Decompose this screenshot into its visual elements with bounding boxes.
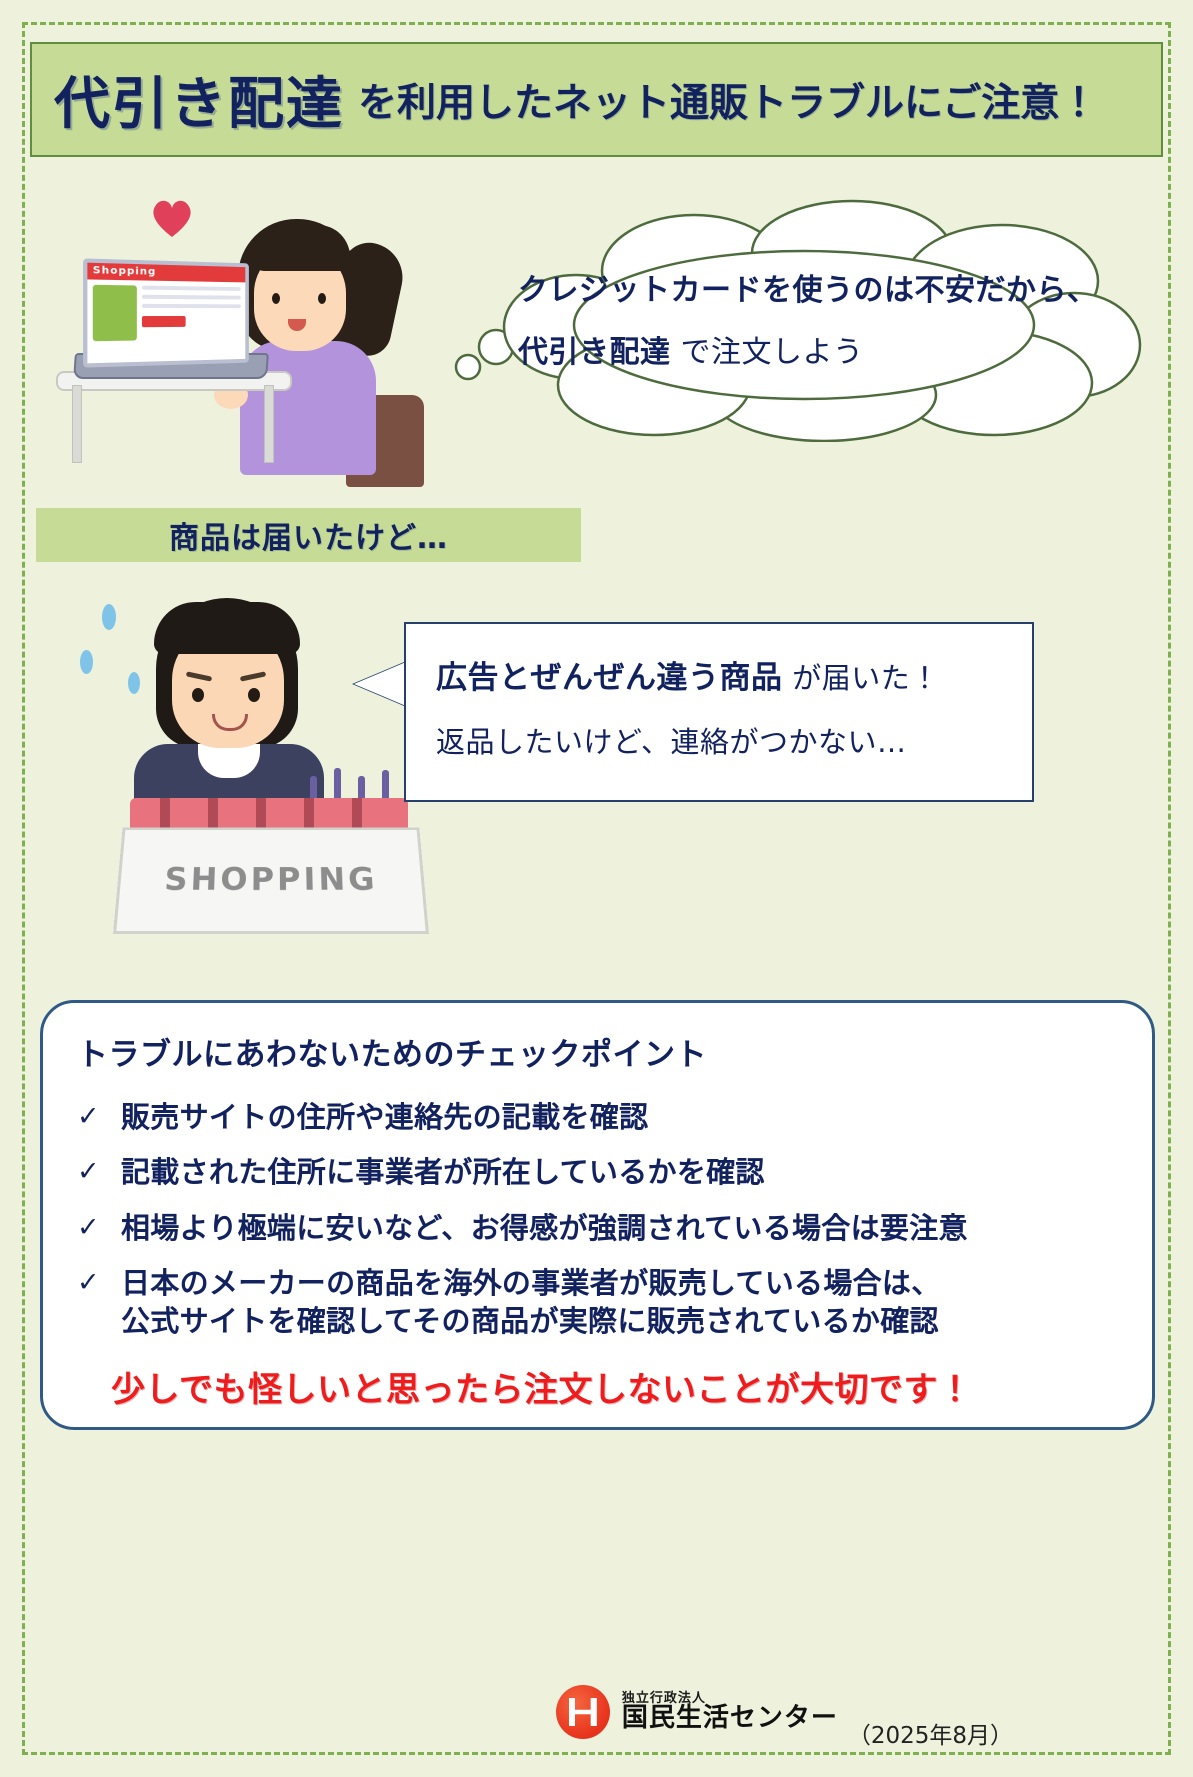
check-icon: ✓ [77, 1209, 121, 1245]
table-leg-left [72, 385, 82, 463]
check-icon: ✓ [77, 1153, 121, 1189]
text-line [142, 286, 241, 291]
speech-line-1: 広告とぜんぜん違う商品 が届いた！ [436, 652, 1002, 697]
illustration-worried-woman-holding-box: SHOPPING [72, 580, 432, 960]
thought-line-2-rest: で注文しよう [671, 335, 864, 370]
checkpoint-item-text: 相場より極端に安いなど、お得感が強調されている場合は要注意 [121, 1209, 968, 1247]
organization-name-block: 独立行政法人 国民生活センター [622, 1692, 838, 1733]
heart-icon [150, 199, 194, 239]
header-title-rest: を利用したネット通販トラブルにご注意！ [358, 72, 1098, 128]
thought-bubble-text: クレジットカードを使うのは不安だから、 代引き配達 で注文しよう [518, 265, 1098, 371]
checkpoint-item-text: 販売サイトの住所や連絡先の記載を確認 [121, 1098, 648, 1136]
scene-wrong-product: SHOPPING 広告とぜんぜん違う商品 が届いた！ 返品したいけど、連絡がつか… [36, 580, 1156, 960]
fringe-shape [154, 602, 300, 654]
speech-bubble: 広告とぜんぜん違う商品 が届いた！ 返品したいけど、連絡がつかない… [404, 622, 1034, 802]
scene-online-order: Shopping [36, 185, 1156, 485]
laptop-screen: Shopping [83, 258, 249, 367]
product-thumbnail [93, 285, 137, 341]
eye-left-shape [272, 293, 280, 304]
text-line [142, 295, 241, 300]
check-icon: ✓ [77, 1264, 121, 1300]
check-icon: ✓ [77, 1098, 121, 1134]
checkpoint-item: ✓ 相場より極端に安いなど、お得感が強調されている場合は要注意 [77, 1209, 1118, 1247]
checkpoint-item: ✓ 日本のメーカーの商品を海外の事業者が販売している場合は、 公式サイトを確認し… [77, 1264, 1118, 1341]
checkpoint-item: ✓ 販売サイトの住所や連絡先の記載を確認 [77, 1098, 1118, 1136]
subbanner-item-delivered: 商品は届いたけど… [36, 508, 581, 562]
checkpoint-item-text: 記載された住所に事業者が所在しているかを確認 [121, 1153, 765, 1191]
shopping-site-body [87, 279, 245, 346]
checkpoint-title: トラブルにあわないためのチェックポイント [77, 1029, 1118, 1074]
speech-line-2: 返品したいけど、連絡がつかない… [436, 719, 1002, 761]
footer: 独立行政法人 国民生活センター （2025年8月） [0, 1672, 1193, 1752]
thought-line-1: クレジットカードを使うのは不安だから、 [518, 265, 1098, 309]
subbanner-label: 商品は届いたけど… [169, 513, 448, 557]
text-line [142, 304, 241, 308]
thought-line-2: 代引き配達 で注文しよう [518, 327, 1098, 371]
organization-name: 国民生活センター [622, 1705, 838, 1732]
publication-date: （2025年8月） [848, 1716, 1013, 1752]
checkpoint-item: ✓ 記載された住所に事業者が所在しているかを確認 [77, 1153, 1118, 1191]
checkpoint-item-text: 日本のメーカーの商品を海外の事業者が販売している場合は、 公式サイトを確認してそ… [121, 1264, 941, 1341]
sweat-drop [128, 672, 140, 694]
table-leg-right [264, 385, 274, 463]
poster-root: 代引き配達 を利用したネット通販トラブルにご注意！ Shopping [0, 0, 1193, 1777]
kokumin-seikatsu-center-logo-icon [556, 1685, 610, 1739]
shipping-box-label: SHOPPING [163, 861, 378, 898]
fringe-shape [250, 225, 350, 271]
buy-button-shape [142, 316, 186, 327]
warning-message: 少しでも怪しいと思ったら注文しないことが大切です！ [77, 1362, 1118, 1411]
thought-line-2-emphasis: 代引き配達 [518, 335, 671, 370]
sweat-drop [80, 650, 93, 674]
shopping-site-title: Shopping [87, 263, 245, 283]
header-title-emphasis: 代引き配達 [54, 59, 344, 140]
eye-left-shape [192, 688, 204, 702]
header-banner: 代引き配達 を利用したネット通販トラブルにご注意！ [30, 42, 1163, 157]
checkpoint-panel: トラブルにあわないためのチェックポイント ✓ 販売サイトの住所や連絡先の記載を確… [40, 1000, 1155, 1430]
eye-right-shape [248, 688, 260, 702]
thought-bubble: クレジットカードを使うのは不安だから、 代引き配達 で注文しよう [454, 197, 1144, 442]
sweat-drop [102, 604, 116, 630]
shipping-box: SHOPPING [113, 827, 429, 934]
eye-right-shape [318, 293, 326, 304]
speech-line-1-rest: が届いた！ [783, 661, 940, 695]
speech-line-1-emphasis: 広告とぜんぜん違う商品 [436, 660, 783, 696]
speech-bubble-tail [354, 662, 406, 706]
illustration-woman-shopping-on-laptop: Shopping [50, 185, 410, 475]
product-description-lines [142, 286, 241, 341]
